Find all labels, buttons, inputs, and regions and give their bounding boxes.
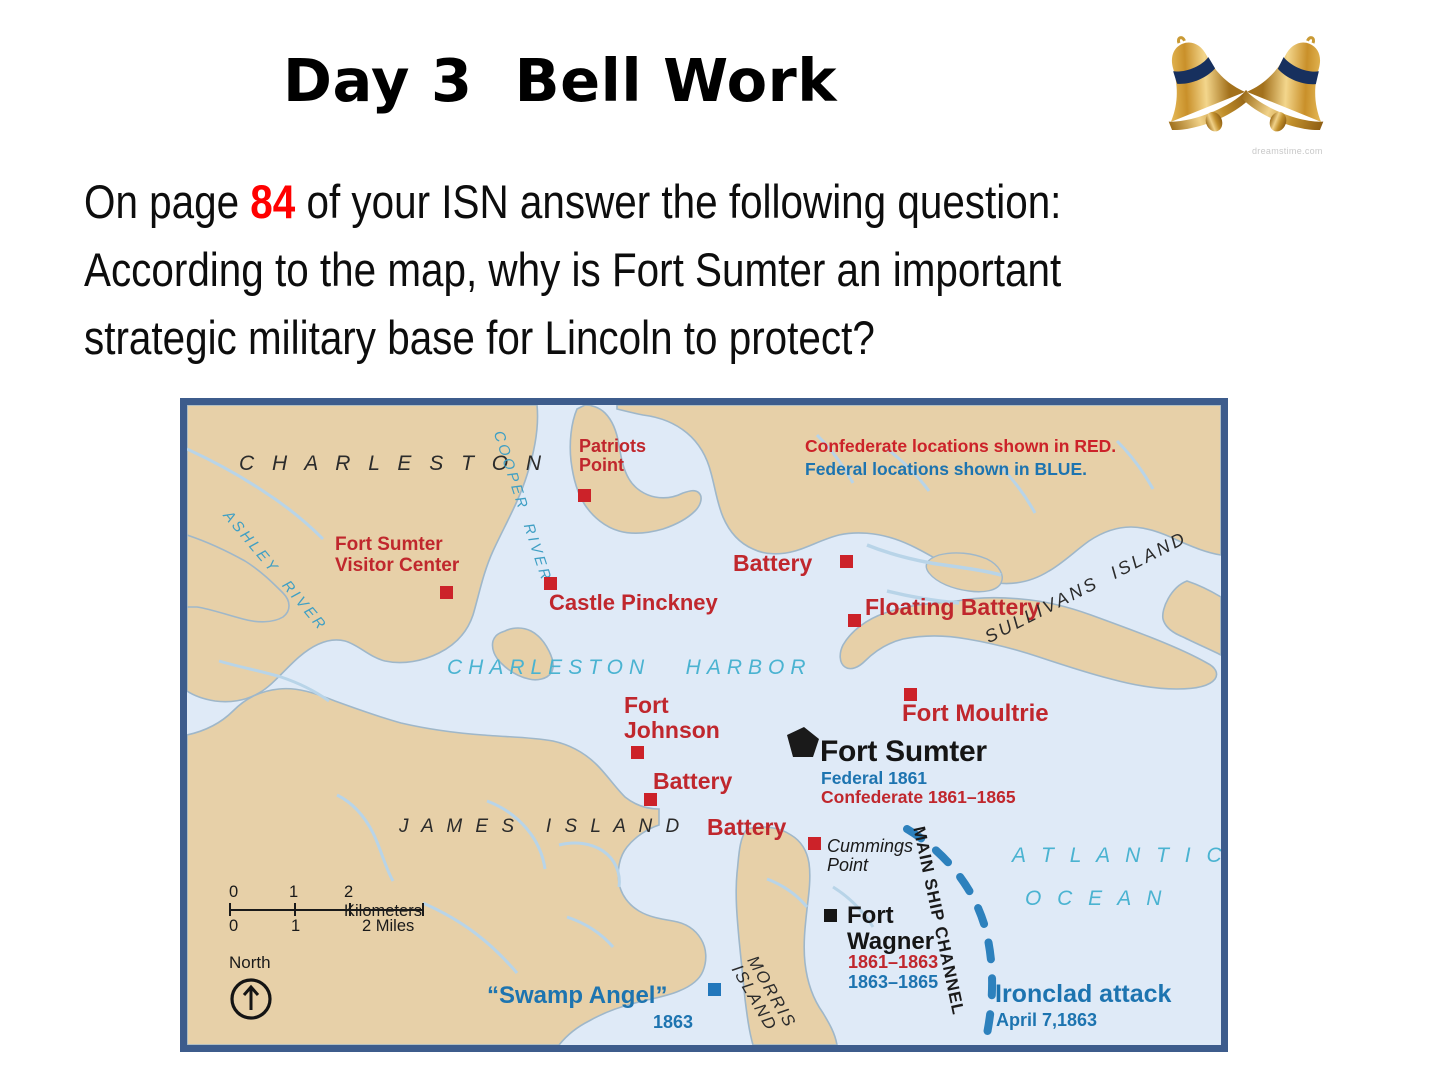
scale-line	[229, 903, 429, 915]
prompt-line-1: On page 84 of your ISN answer the follow…	[84, 168, 1193, 236]
label-fort-johnson: Fort Johnson	[624, 693, 720, 743]
bells-icon	[1140, 18, 1355, 158]
marker-battery-north	[840, 555, 853, 568]
marker-fort-sumter-visitor-center	[440, 586, 453, 599]
north-arrow-icon	[229, 977, 273, 1021]
north-label: North	[229, 953, 271, 973]
marker-fort-wagner	[824, 909, 837, 922]
label-battery-north: Battery	[733, 551, 812, 576]
legend-line-confederate: Confederate locations shown in RED.	[805, 435, 1116, 458]
label-fort-wagner-federal: 1863–1865	[848, 973, 938, 992]
marker-battery-south	[808, 837, 821, 850]
prompt-text: On page 84 of your ISN answer the follow…	[84, 168, 1193, 372]
marker-fort-johnson	[631, 746, 644, 759]
label-fort-sumter-confederate: Confederate 1861–1865	[821, 788, 1016, 807]
label-ocean: O C E A N	[1025, 888, 1166, 911]
marker-patriots-point	[578, 489, 591, 502]
map-legend: Confederate locations shown in RED. Fede…	[805, 435, 1116, 481]
label-fort-wagner-confederate: 1861–1863	[848, 953, 938, 972]
label-battery-mid: Battery	[653, 769, 732, 794]
label-ironclad-date: April 7,1863	[996, 1011, 1097, 1030]
charleston-harbor-map: Confederate locations shown in RED. Fede…	[180, 398, 1228, 1052]
marker-battery-mid	[644, 793, 657, 806]
page-number-highlight: 84	[250, 175, 295, 228]
label-fort-sumter-visitor-center: Fort Sumter Visitor Center	[335, 535, 459, 576]
scale-mi-labels: 0 1 2 Miles	[229, 917, 429, 937]
marker-floating-battery	[848, 614, 861, 627]
page-title: Day 3 Bell Work	[0, 46, 1120, 115]
scale-mi-0: 0	[229, 917, 238, 936]
scale-mi-2: 2 Miles	[362, 917, 414, 936]
scale-km-labels: 0 1 2 Kilometers	[229, 883, 429, 903]
label-atlantic: A T L A N T I C	[1012, 845, 1227, 868]
label-fort-sumter-federal: Federal 1861	[821, 769, 927, 788]
label-castle-pinckney: Castle Pinckney	[549, 591, 718, 615]
dreamstime-watermark: dreamstime.com	[1252, 146, 1323, 156]
scale-km-2: 2 Kilometers	[344, 883, 429, 921]
prompt-line-2: According to the map, why is Fort Sumter…	[84, 236, 1193, 304]
prompt-line-3: strategic military base for Lincoln to p…	[84, 304, 1193, 372]
marker-castle-pinckney	[544, 577, 557, 590]
label-fort-wagner: Fort Wagner	[847, 903, 934, 955]
label-charleston-harbor: CHARLESTON HARBOR	[447, 657, 812, 680]
scale-km-1: 1	[289, 883, 298, 902]
marker-swamp-angel	[708, 983, 721, 996]
marker-fort-moultrie	[904, 688, 917, 701]
label-swamp-angel: “Swamp Angel”	[487, 983, 667, 1009]
label-fort-moultrie: Fort Moultrie	[902, 701, 1049, 727]
legend-line-federal: Federal locations shown in BLUE.	[805, 458, 1116, 481]
scale-km-0: 0	[229, 883, 238, 902]
scale-mi-1: 1	[291, 917, 300, 936]
label-battery-south: Battery	[707, 815, 786, 840]
prompt-line-1-post: of your ISN answer the following questio…	[295, 175, 1061, 228]
label-cummings-point: Cummings Point	[827, 837, 913, 876]
label-patriots-point: Patriots Point	[579, 437, 646, 476]
label-ironclad-attack: Ironclad attack	[995, 981, 1171, 1008]
label-fort-sumter: Fort Sumter	[820, 736, 987, 768]
prompt-line-1-pre: On page	[84, 175, 250, 228]
label-james-island: J A M E S I S L A N D	[399, 817, 683, 838]
scale-bar: 0 1 2 Kilometers 0 1 2 Miles	[229, 883, 429, 937]
label-swamp-angel-year: 1863	[653, 1013, 693, 1032]
